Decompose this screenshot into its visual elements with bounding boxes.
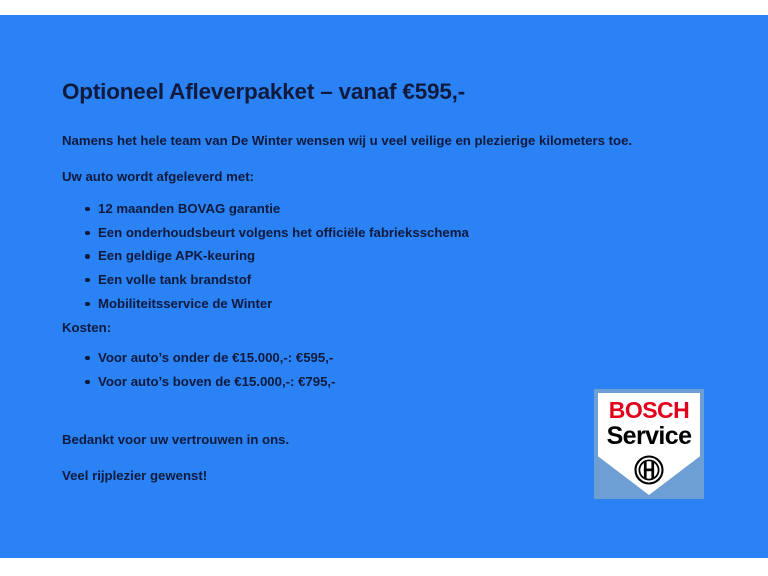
delivery-heading: Uw auto wordt afgeleverd met: (62, 169, 702, 186)
bosch-armature-icon (634, 455, 664, 485)
list-item: Voor auto’s onder de €15.000,-: €595,- (62, 351, 702, 364)
list-item: 12 maanden BOVAG garantie (62, 202, 702, 215)
costs-heading: Kosten: (62, 320, 702, 337)
page-title: Optioneel Afleverpakket – vanaf €595,- (62, 79, 702, 105)
intro-paragraph: Namens het hele team van De Winter wense… (62, 133, 702, 150)
list-item: Een onderhoudsbeurt volgens het officiël… (62, 226, 702, 239)
list-item: Mobiliteitsservice de Winter (62, 297, 702, 310)
slide-page: Optioneel Afleverpakket – vanaf €595,- N… (0, 0, 768, 576)
logo-inner-frame: BOSCH Service (598, 393, 700, 495)
list-item: Voor auto’s boven de €15.000,-: €795,- (62, 375, 702, 388)
list-item: Een volle tank brandstof (62, 273, 702, 286)
slide-blue-panel: Optioneel Afleverpakket – vanaf €595,- N… (0, 15, 768, 558)
logo-brand-text: BOSCH (598, 399, 700, 422)
costs-list: Voor auto’s onder de €15.000,-: €595,- V… (62, 351, 702, 388)
bosch-service-logo: BOSCH Service (594, 389, 704, 499)
logo-service-text: Service (598, 424, 700, 449)
delivery-list: 12 maanden BOVAG garantie Een onderhouds… (62, 202, 702, 310)
list-item: Een geldige APK-keuring (62, 249, 702, 262)
